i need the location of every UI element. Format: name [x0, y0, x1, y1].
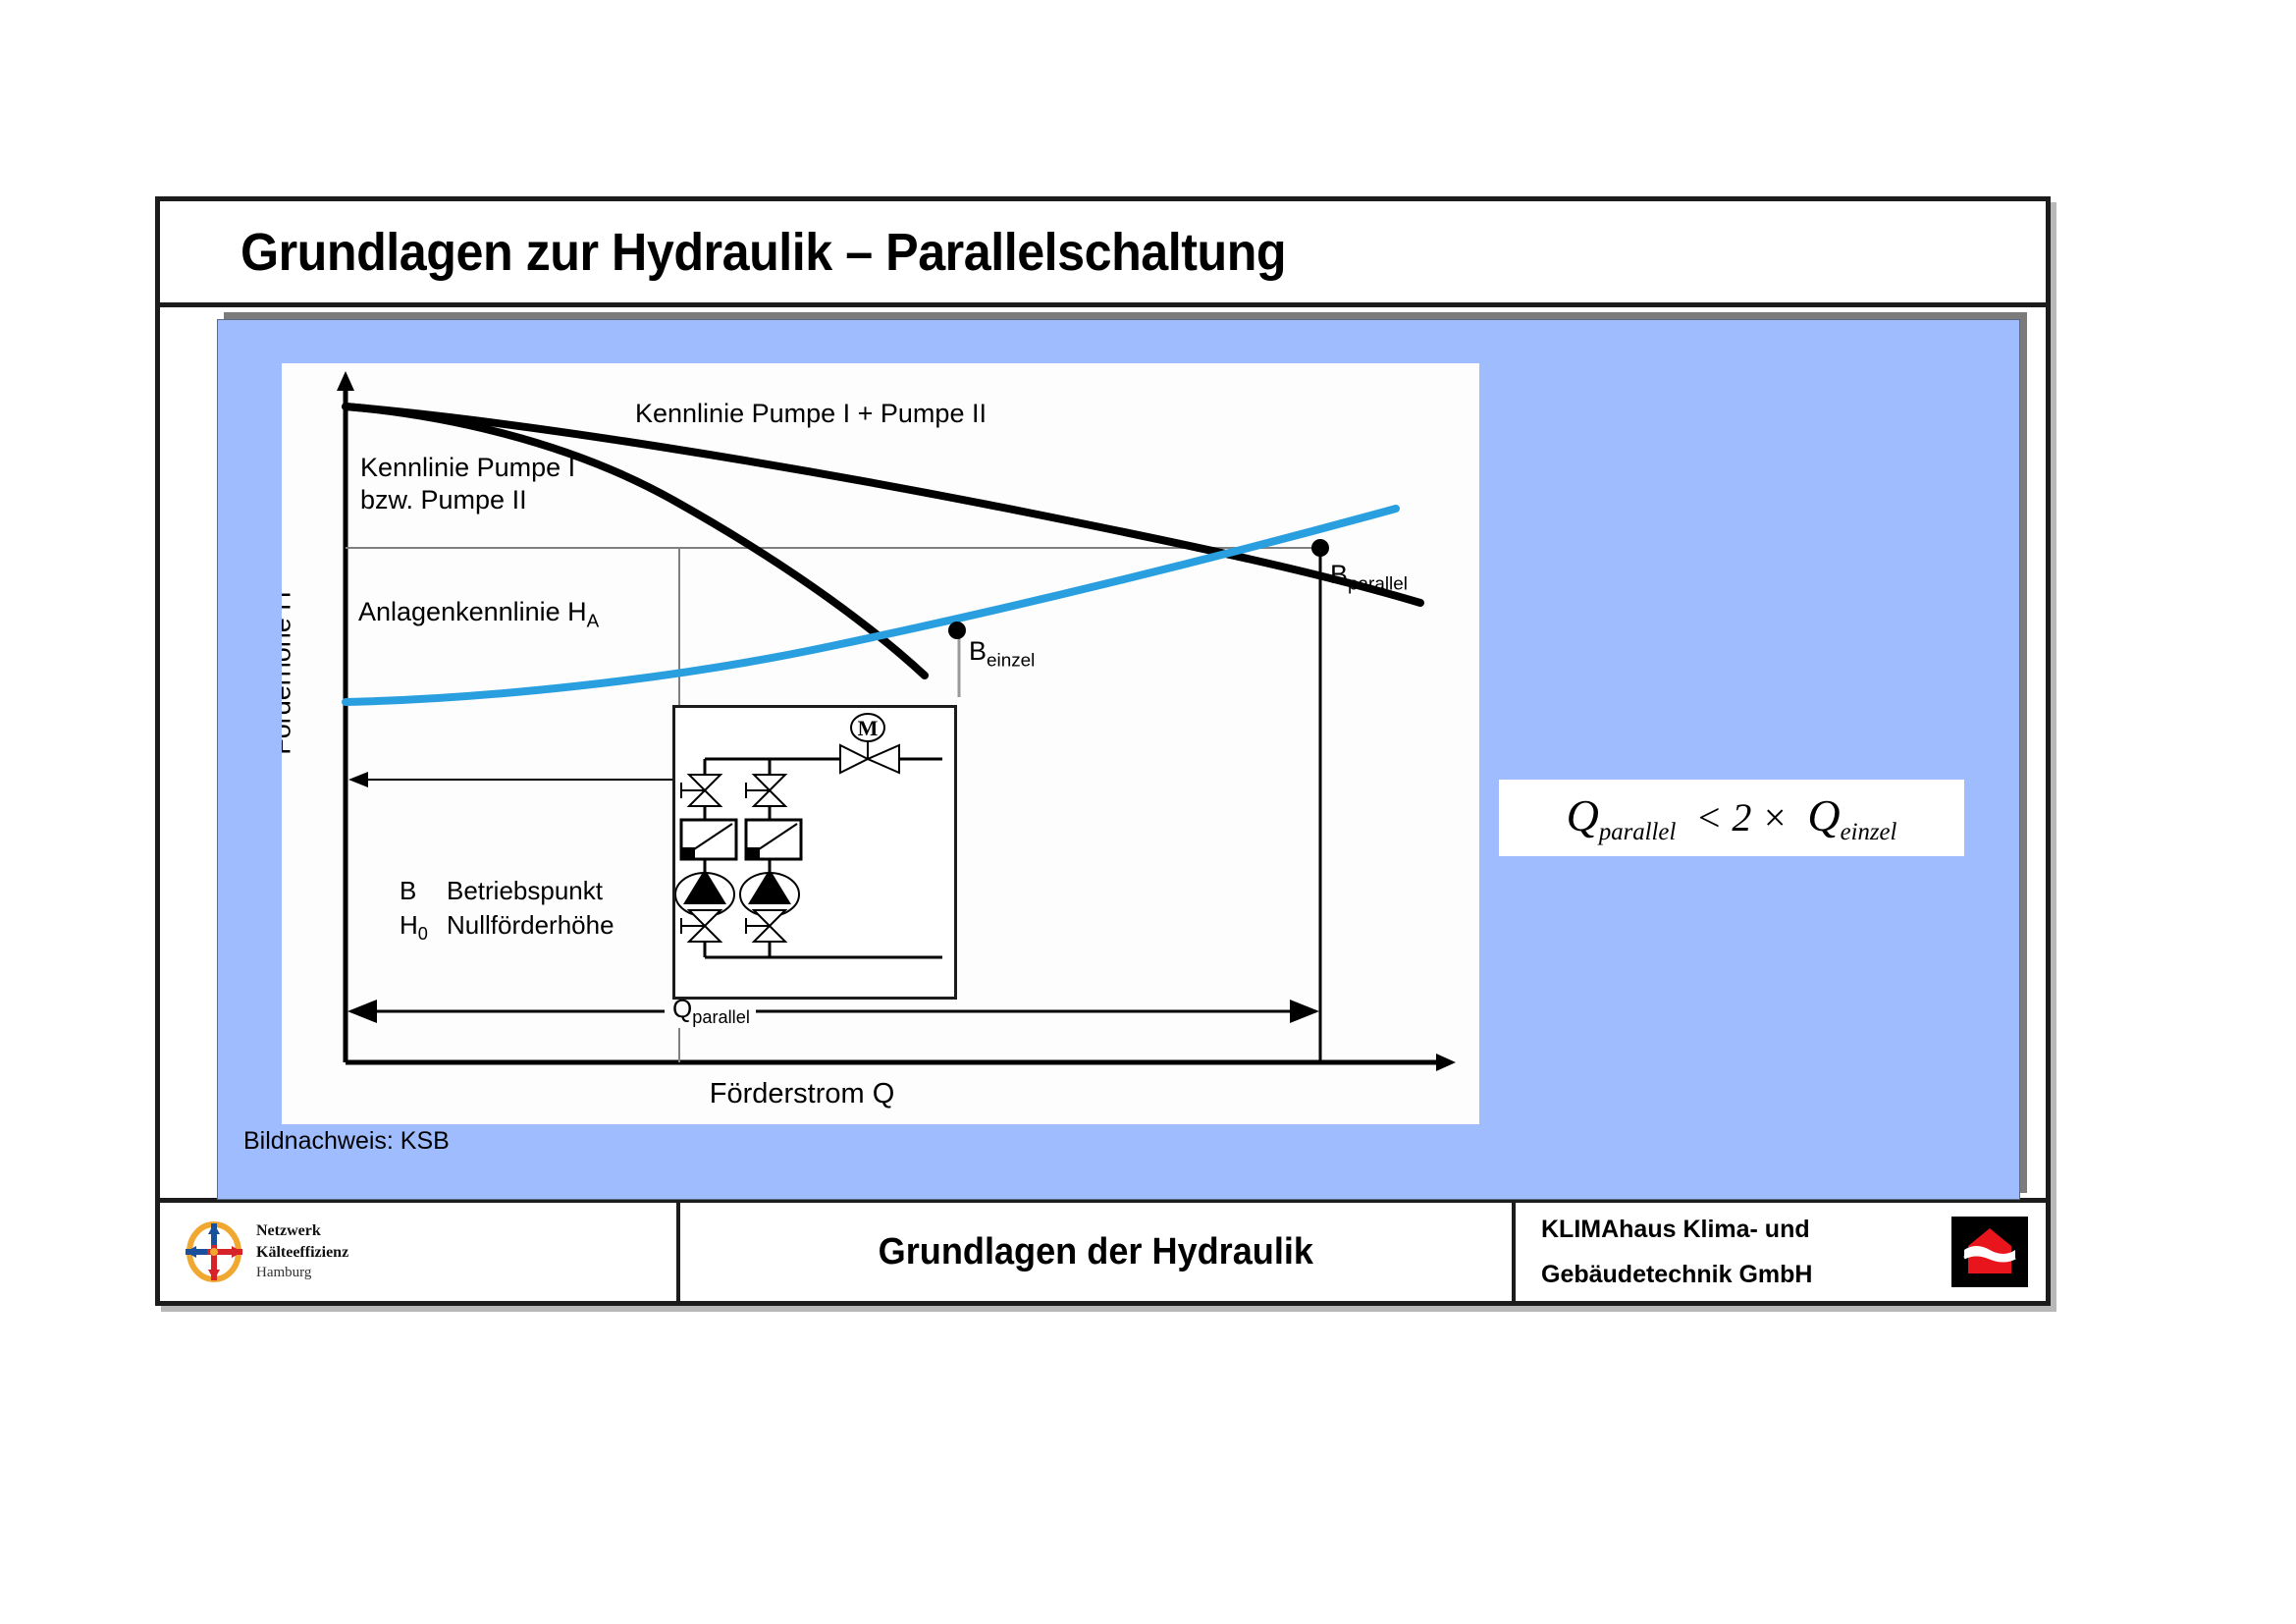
annotation-system-curve: Anlagenkennlinie HA — [358, 597, 599, 632]
footer-left-cell: Netzwerk Kälteeffizienz Hamburg — [160, 1203, 680, 1301]
netzwerk-logo: Netzwerk Kälteeffizienz Hamburg — [182, 1219, 348, 1284]
house-logo-icon — [1962, 1224, 2017, 1279]
label-b-parallel: Bparallel — [1330, 560, 1408, 595]
y-axis — [337, 371, 354, 1062]
legend-symbol-h0: H0 — [400, 908, 447, 947]
formula-q-parallel: Q — [1567, 790, 1599, 840]
company-name: KLIMAhaus Klima- und Gebäudetechnik GmbH — [1541, 1207, 1812, 1298]
parallel-pump-schematic: M — [672, 705, 957, 1000]
legend-item-h0: H0Nullförderhöhe — [400, 908, 614, 947]
formula-q-einzel-sub: einzel — [1841, 819, 1897, 845]
operating-point-einzel — [948, 622, 966, 639]
y-axis-title: Förderhöhe H — [282, 546, 297, 801]
shutoff-valve-2-top — [746, 775, 785, 806]
company-name-line1: KLIMAhaus Klima- und — [1541, 1207, 1812, 1252]
slide-page: Grundlagen zur Hydraulik – Parallelschal… — [0, 0, 2296, 1624]
klimahaus-logo — [1951, 1217, 2028, 1287]
shutoff-valve-1-top — [681, 775, 721, 806]
annotation-curve-combined: Kennlinie Pumpe I + Pumpe II — [635, 399, 987, 429]
page-title: Grundlagen zur Hydraulik – Parallelschal… — [240, 222, 1286, 283]
title-bar: Grundlagen zur Hydraulik – Parallelschal… — [160, 201, 2046, 307]
company-name-line2: Gebäudetechnik GmbH — [1541, 1252, 1812, 1297]
netzwerk-logo-line3: Hamburg — [256, 1263, 348, 1282]
x-axis-title: Förderstrom Q — [282, 1078, 1322, 1110]
motorized-valve: M — [840, 714, 899, 773]
operating-point-parallel — [1311, 539, 1329, 557]
formula-text: Qparallel < 2 × Qeinzel — [1567, 789, 1897, 846]
annotation-curve-single: Kennlinie Pumpe I bzw. Pumpe II — [360, 452, 575, 516]
formula-q-parallel-sub: parallel — [1599, 819, 1677, 845]
check-valve-2 — [746, 820, 801, 859]
motor-label: M — [858, 716, 879, 740]
chart-legend: BBetriebspunkt H0Nullförderhöhe — [400, 874, 614, 947]
curve-single-pump — [346, 406, 925, 676]
legend-item-b: BBetriebspunkt — [400, 874, 614, 908]
check-valve-1 — [681, 820, 736, 859]
formula-box: Qparallel < 2 × Qeinzel — [1499, 780, 1964, 856]
shutoff-valve-2-bottom — [746, 910, 785, 942]
pump-schematic-svg: M — [675, 708, 954, 997]
formula-q-einzel: Q — [1807, 790, 1840, 840]
image-credit: Bildnachweis: KSB — [243, 1127, 450, 1156]
compass-icon — [182, 1219, 246, 1284]
footer-center-cell: Grundlagen der Hydraulik — [680, 1203, 1516, 1301]
footer-subject-title: Grundlagen der Hydraulik — [879, 1231, 1313, 1273]
pump-symbol-1 — [675, 869, 734, 916]
label-b-einzel: Beinzel — [969, 636, 1035, 672]
pump-branch-2 — [740, 775, 801, 942]
pump-curve-chart: H0 H Förderhöhe H Förderstrom Q Kennlini… — [282, 363, 1479, 1124]
pump-branch-1 — [675, 775, 736, 942]
footer-right-cell: KLIMAhaus Klima- und Gebäudetechnik GmbH — [1516, 1203, 2046, 1301]
pump-symbol-2 — [740, 869, 799, 916]
netzwerk-logo-text: Netzwerk Kälteeffizienz Hamburg — [256, 1220, 348, 1282]
formula-operator: < 2 × — [1695, 795, 1788, 839]
netzwerk-logo-line2: Kälteeffizienz — [256, 1242, 348, 1264]
x-axis — [346, 1054, 1456, 1071]
slide-footer: Netzwerk Kälteeffizienz Hamburg Grundlag… — [160, 1198, 2046, 1301]
shutoff-valve-1-bottom — [681, 910, 721, 942]
netzwerk-logo-line1: Netzwerk — [256, 1220, 348, 1242]
